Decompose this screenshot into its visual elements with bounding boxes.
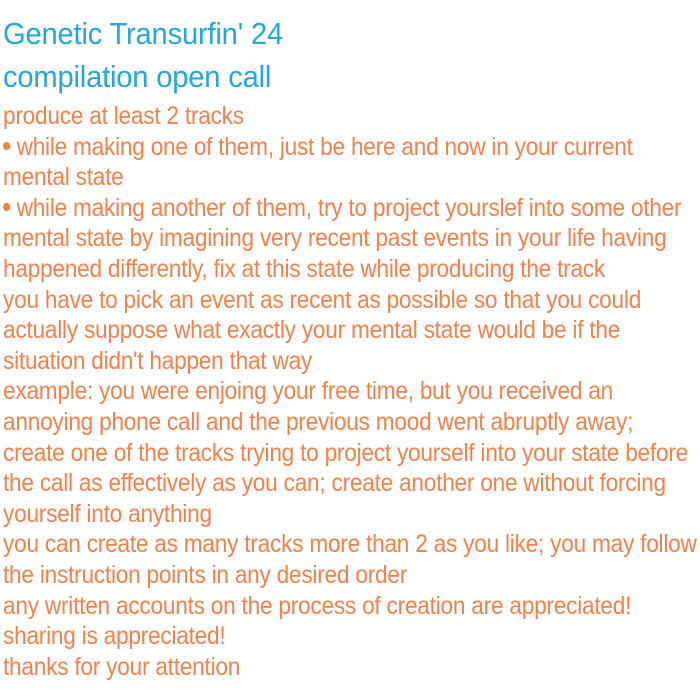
instruction-line: situation didn't happen that way [3, 346, 634, 377]
instruction-line-text: example: you were enjoing your free time… [3, 377, 613, 405]
instruction-line: you have to pick an event as recent as p… [3, 285, 634, 316]
instruction-line-text: mental state [3, 163, 124, 191]
instruction-line: the instruction points in any desired or… [3, 560, 634, 591]
open-call-poster: Genetic Transurfin' 24 compilation open … [0, 0, 700, 700]
bullet-dot-icon [3, 203, 10, 211]
instruction-line-text: thanks for your attention [3, 653, 240, 681]
instruction-line-text: you have to pick an event as recent as p… [3, 286, 641, 314]
instruction-line-text: actually suppose what exactly your menta… [3, 316, 620, 344]
instruction-line-text: you can create as many tracks more than … [3, 530, 697, 558]
instruction-line: thanks for your attention [3, 652, 634, 683]
instruction-line-text: produce at least 2 tracks [3, 102, 244, 130]
instruction-line: yourself into anything [3, 499, 634, 530]
instructions-body: produce at least 2 trackswhile making on… [0, 101, 700, 682]
instruction-line-text: yourself into anything [3, 500, 212, 528]
instruction-line-text: happened differently, fix at this state … [3, 255, 605, 283]
poster-heading-group: Genetic Transurfin' 24 compilation open … [0, 0, 700, 98]
instruction-line-text: situation didn't happen that way [3, 347, 312, 375]
instruction-line-text: the instruction points in any desired or… [3, 561, 407, 589]
instruction-bullet-line: while making one of them, just be here a… [3, 132, 634, 163]
instruction-line: any written accounts on the process of c… [3, 591, 634, 622]
instruction-line-text: sharing is appreciated! [3, 622, 225, 650]
instruction-line: annoying phone call and the previous moo… [3, 407, 634, 438]
page-subtitle: compilation open call [3, 55, 658, 98]
instruction-line: actually suppose what exactly your menta… [3, 315, 634, 346]
instruction-line: the call as effectively as you can; crea… [3, 468, 634, 499]
instruction-line-text: while making another of them, try to pro… [17, 194, 682, 222]
instruction-line-text: annoying phone call and the previous moo… [3, 408, 633, 436]
page-title: Genetic Transurfin' 24 [3, 12, 658, 55]
instruction-line: example: you were enjoing your free time… [3, 376, 634, 407]
bullet-dot-icon [3, 142, 10, 150]
instruction-line-text: while making one of them, just be here a… [17, 133, 633, 161]
instruction-line-text: create one of the tracks trying to proje… [3, 439, 688, 467]
instruction-line-text: the call as effectively as you can; crea… [3, 469, 666, 497]
instruction-line: mental state [3, 162, 634, 193]
instruction-line-text: any written accounts on the process of c… [3, 592, 631, 620]
instruction-line-text: mental state by imagining very recent pa… [3, 224, 666, 252]
instruction-line: mental state by imagining very recent pa… [3, 223, 634, 254]
instruction-line: happened differently, fix at this state … [3, 254, 634, 285]
instruction-bullet-line: while making another of them, try to pro… [3, 193, 634, 224]
instruction-line: sharing is appreciated! [3, 621, 634, 652]
instruction-line: produce at least 2 tracks [3, 101, 634, 132]
instruction-line: you can create as many tracks more than … [3, 529, 634, 560]
instruction-line: create one of the tracks trying to proje… [3, 438, 634, 469]
